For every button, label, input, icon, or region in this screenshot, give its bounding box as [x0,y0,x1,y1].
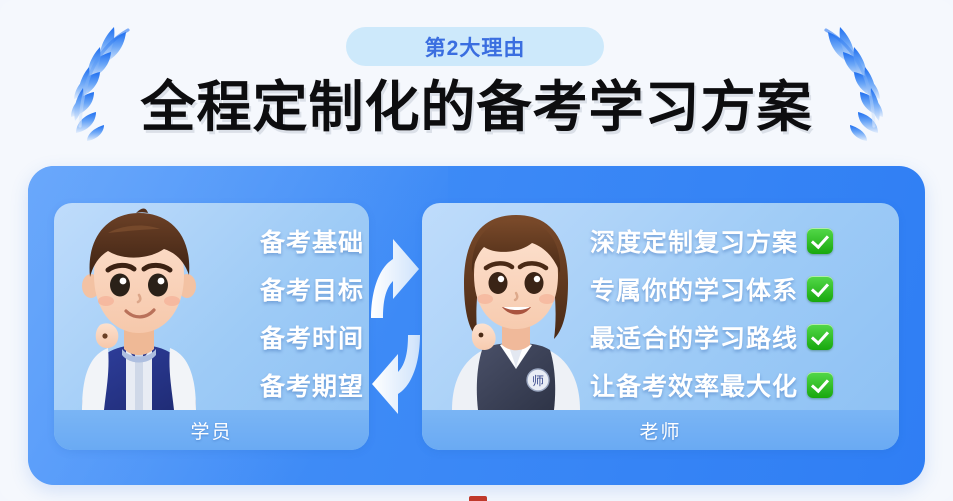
reason-badge: 第2大理由 [346,27,604,66]
list-item: 让备考效率最大化 [590,361,890,409]
list-item-label: 最适合的学习路线 [590,319,798,355]
list-item-label: 备考目标 [260,271,364,307]
list-item: 备考目标 [214,265,364,313]
student-boy-avatar [64,203,214,410]
list-item: 备考基础 [214,217,364,265]
check-mark-icon [807,228,833,254]
exchange-arrows [369,203,422,450]
poster-canvas: 第2大理由 全程定制化的备考学习方案 [0,0,953,501]
svg-text:师: 师 [532,374,544,388]
page-title: 全程定制化的备考学习方案 [0,66,953,138]
comparison-panel: 备考基础 备考目标 备考时间 备考期望 学员 [28,166,925,485]
list-item: 专属你的学习体系 [590,265,890,313]
bottom-accent-sliver [469,496,487,501]
teacher-woman-avatar: 师 [438,203,594,410]
check-mark-icon [807,324,833,350]
list-item: 备考期望 [214,361,364,409]
list-item-label: 备考基础 [260,223,364,259]
list-item: 最适合的学习路线 [590,313,890,361]
student-card-footer: 学员 [54,410,369,450]
teacher-card-body: 师 [422,203,899,410]
student-card-body: 备考基础 备考目标 备考时间 备考期望 [54,203,369,410]
list-item-label: 专属你的学习体系 [590,271,798,307]
list-item-label: 让备考效率最大化 [590,367,798,403]
curved-arrow-left-icon [372,335,420,414]
teacher-item-list: 深度定制复习方案 专属你的学习体系 最适合的学习路线 让备考效率最大化 [590,217,890,409]
list-item-label: 备考时间 [260,319,364,355]
list-item-label: 备考期望 [260,367,364,403]
list-item: 深度定制复习方案 [590,217,890,265]
check-mark-icon [807,276,833,302]
list-item: 备考时间 [214,313,364,361]
curved-arrow-right-icon [371,239,419,318]
check-mark-icon [807,372,833,398]
teacher-card: 师 [422,203,899,450]
student-item-list: 备考基础 备考目标 备考时间 备考期望 [214,217,364,409]
student-card: 备考基础 备考目标 备考时间 备考期望 学员 [54,203,369,450]
teacher-card-footer: 老师 [422,410,899,450]
list-item-label: 深度定制复习方案 [590,223,798,259]
